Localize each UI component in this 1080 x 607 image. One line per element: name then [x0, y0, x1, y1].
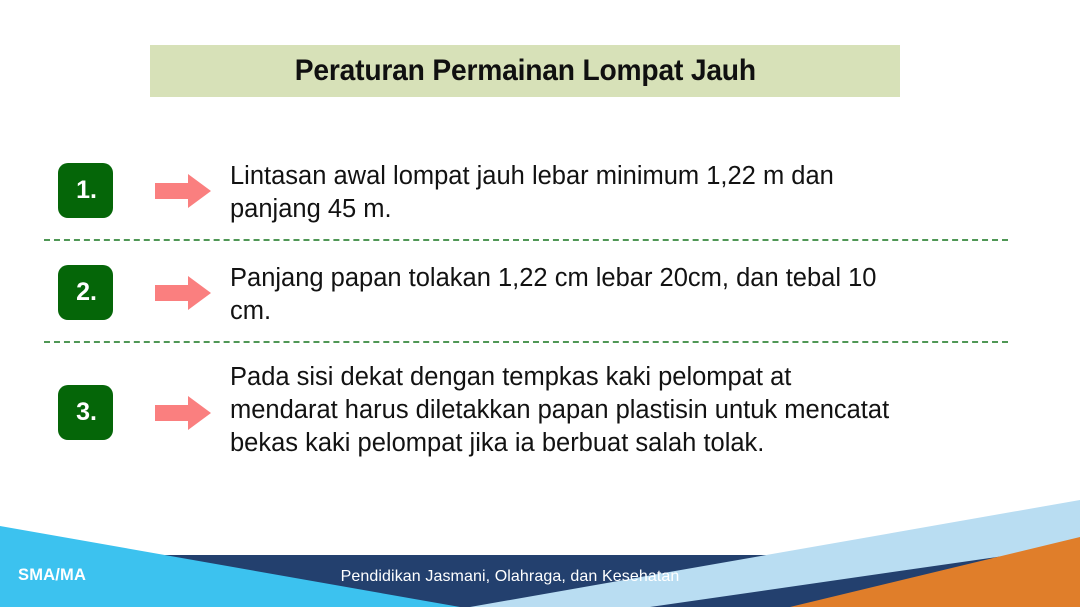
rule-text: Lintasan awal lompat jauh lebar minimum … — [230, 160, 902, 226]
rule-divider — [44, 239, 1008, 241]
right-arrow-icon — [150, 265, 216, 320]
footer-subject: Pendidikan Jasmani, Olahraga, dan Keseha… — [0, 568, 1020, 586]
rule-divider — [44, 341, 1008, 343]
rule-number-badge: 2. — [58, 265, 113, 320]
list-item: 3. Pada sisi dekat dengan tempkas kaki p… — [0, 354, 1080, 460]
slide-title-bar: Peraturan Permainan Lompat Jauh — [150, 45, 900, 97]
slide-footer: SMA/MA Pendidikan Jasmani, Olahraga, dan… — [0, 500, 1080, 607]
rules-list: 1. Lintasan awal lompat jauh lebar minim… — [0, 150, 1080, 460]
list-item: 2. Panjang papan tolakan 1,22 cm lebar 2… — [0, 252, 1080, 328]
list-item: 1. Lintasan awal lompat jauh lebar minim… — [0, 150, 1080, 226]
rule-number-badge: 3. — [58, 385, 113, 440]
right-arrow-icon — [150, 163, 216, 218]
rule-number-badge: 1. — [58, 163, 113, 218]
rule-text: Pada sisi dekat dengan tempkas kaki pelo… — [230, 361, 902, 460]
rule-text: Panjang papan tolakan 1,22 cm lebar 20cm… — [230, 262, 902, 328]
page-title: Peraturan Permainan Lompat Jauh — [294, 54, 755, 88]
right-arrow-icon — [150, 385, 216, 440]
